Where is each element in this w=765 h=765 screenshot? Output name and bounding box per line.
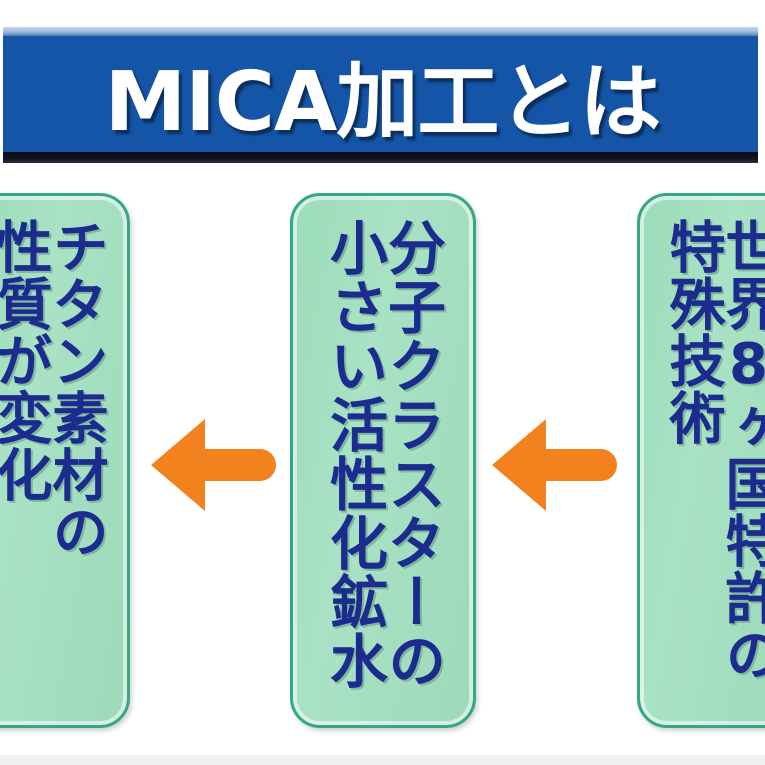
flow-box-middle: 分子クラスターの 小さい活性化鉱水 xyxy=(290,193,476,728)
flow-box-left-column-1: チタン素材の xyxy=(47,218,103,560)
page-title: MICA加工とは xyxy=(0,36,765,152)
flow-box-right-column-1: 世界8ヶ国特許の xyxy=(720,218,765,683)
flow-box-middle-column-1: 分子クラスターの xyxy=(383,218,441,690)
header-bottom-shadow-edge xyxy=(3,152,758,163)
infographic-canvas: MICA加工とは チタン素材の 性質が変化 分子クラスターの 小さい活性化鉱水 … xyxy=(0,0,765,765)
arrow-left-icon-2 xyxy=(489,412,619,518)
arrow-left-icon-1 xyxy=(148,412,278,518)
flow-box-left-column-2: 性質が変化 xyxy=(0,218,47,503)
flow-box-right-text: 世界8ヶ国特許の 特殊技術 xyxy=(640,218,765,715)
flow-box-middle-column-2: 小さい活性化鉱水 xyxy=(325,218,383,690)
bottom-edge-strip xyxy=(0,755,765,765)
flow-box-middle-text: 分子クラスターの 小さい活性化鉱水 xyxy=(293,218,473,715)
flow-box-right-column-2: 特殊技術 xyxy=(664,218,720,446)
flow-box-left-text: チタン素材の 性質が変化 xyxy=(0,218,127,715)
flow-box-right: 世界8ヶ国特許の 特殊技術 xyxy=(637,193,765,728)
flow-box-left: チタン素材の 性質が変化 xyxy=(0,193,130,728)
